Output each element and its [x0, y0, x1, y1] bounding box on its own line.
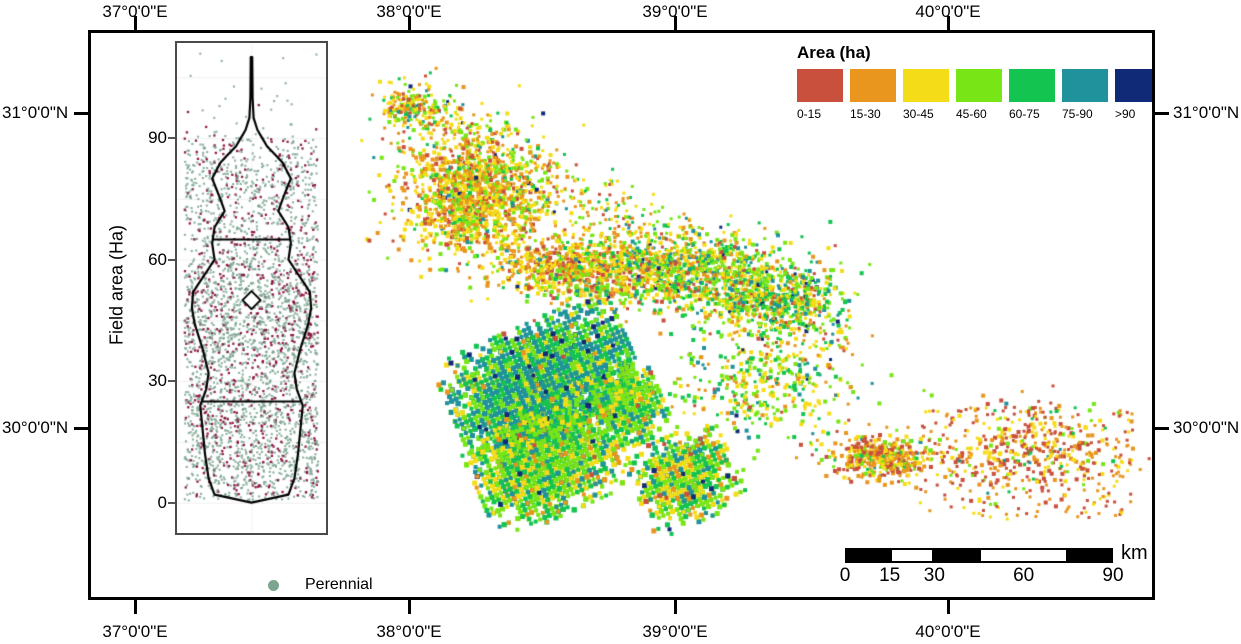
x-axis-tick-39 [674, 16, 677, 30]
violin-legend-item-perennial: Perennial [268, 576, 373, 594]
scale-bar-segment-3 [979, 548, 1068, 563]
scale-bar-segments [845, 548, 1113, 563]
legend-label-row: 0-1515-3030-4545-6060-7575-90>90 [797, 107, 1155, 121]
y-axis-label-right-31: 31°0'0"N [1173, 103, 1239, 123]
x-axis-tick-40 [947, 16, 950, 30]
violin-legend-label-1: Seasonal [305, 599, 372, 600]
legend-class-label-2: 30-45 [903, 107, 949, 121]
violin-plot-canvas [177, 43, 326, 533]
scale-bar-tick-30: 30 [924, 565, 945, 587]
violin-legend-dot-0 [268, 580, 279, 591]
scale-bar: km 015306090 [845, 548, 1113, 589]
violin-y-tick-mark-60 [168, 259, 175, 261]
violin-legend-label-0: Perennial [305, 576, 373, 594]
legend-class-label-5: 75-90 [1062, 107, 1108, 121]
scale-bar-tick-90: 90 [1102, 565, 1123, 587]
legend-class-label-4: 60-75 [1009, 107, 1055, 121]
legend-class-label-6: >90 [1115, 107, 1155, 121]
x-axis-label-39: 39°0'0"E [642, 622, 707, 642]
map-frame: Area (ha) 0-1515-3030-4545-6060-7575-90>… [88, 30, 1155, 600]
scale-bar-tick-0: 0 [840, 565, 851, 587]
violin-y-tick-mark-0 [168, 502, 175, 504]
legend-class-label-0: 0-15 [797, 107, 843, 121]
x-axis-tick-38 [408, 16, 411, 30]
y-axis-tick-left-30 [74, 427, 88, 430]
legend-swatch-2 [903, 69, 949, 102]
x-axis-tick-37 [134, 600, 137, 614]
x-axis-tick-39 [674, 600, 677, 614]
y-axis-tick-left-31 [74, 112, 88, 115]
y-axis-label-left-30: 30°0'0"N [2, 418, 68, 438]
legend-swatch-3 [956, 69, 1002, 102]
legend-swatch-6 [1115, 69, 1155, 102]
x-axis-label-38: 38°0'0"E [376, 622, 441, 642]
scale-bar-segment-4 [1068, 548, 1113, 563]
violin-y-axis-label: Field area (Ha) [107, 225, 128, 345]
violin-y-tick-label-0: 0 [123, 493, 167, 513]
y-axis-label-left-31: 31°0'0"N [2, 103, 68, 123]
y-axis-label-right-30: 30°0'0"N [1173, 418, 1239, 438]
x-axis-tick-40 [947, 600, 950, 614]
legend-swatch-4 [1009, 69, 1055, 102]
scale-bar-segment-0 [845, 548, 890, 563]
violin-inset-panel [175, 41, 328, 535]
violin-y-tick-mark-30 [168, 380, 175, 382]
area-legend: Area (ha) 0-1515-3030-4545-6060-7575-90>… [797, 43, 1155, 121]
legend-swatch-row [797, 69, 1155, 102]
x-axis-tick-38 [408, 600, 411, 614]
y-axis-tick-right-31 [1155, 112, 1169, 115]
x-axis-label-37: 37°0'0"E [102, 622, 167, 642]
violin-legend: PerennialSeasonal [268, 576, 373, 600]
scale-bar-unit: km [1121, 542, 1148, 565]
scale-bar-tick-labels: 015306090 [845, 565, 1113, 589]
scale-bar-segment-2 [934, 548, 979, 563]
figure-root: 37°0'0"E38°0'0"E39°0'0"E40°0'0"E 37°0'0"… [0, 0, 1241, 644]
legend-class-label-1: 15-30 [850, 107, 896, 121]
violin-y-tick-mark-90 [168, 137, 175, 139]
legend-title: Area (ha) [797, 43, 1155, 63]
x-axis-tick-37 [134, 16, 137, 30]
x-axis-label-40: 40°0'0"E [915, 622, 980, 642]
violin-y-tick-label-60: 60 [123, 250, 167, 270]
scale-bar-tick-15: 15 [879, 565, 900, 587]
y-axis-tick-right-30 [1155, 427, 1169, 430]
scale-bar-tick-60: 60 [1013, 565, 1034, 587]
legend-class-label-3: 45-60 [956, 107, 1002, 121]
scale-bar-segment-1 [890, 548, 935, 563]
violin-legend-item-seasonal: Seasonal [268, 599, 373, 600]
legend-swatch-0 [797, 69, 843, 102]
violin-y-tick-label-90: 90 [123, 128, 167, 148]
violin-y-tick-label-30: 30 [123, 371, 167, 391]
legend-swatch-1 [850, 69, 896, 102]
legend-swatch-5 [1062, 69, 1108, 102]
